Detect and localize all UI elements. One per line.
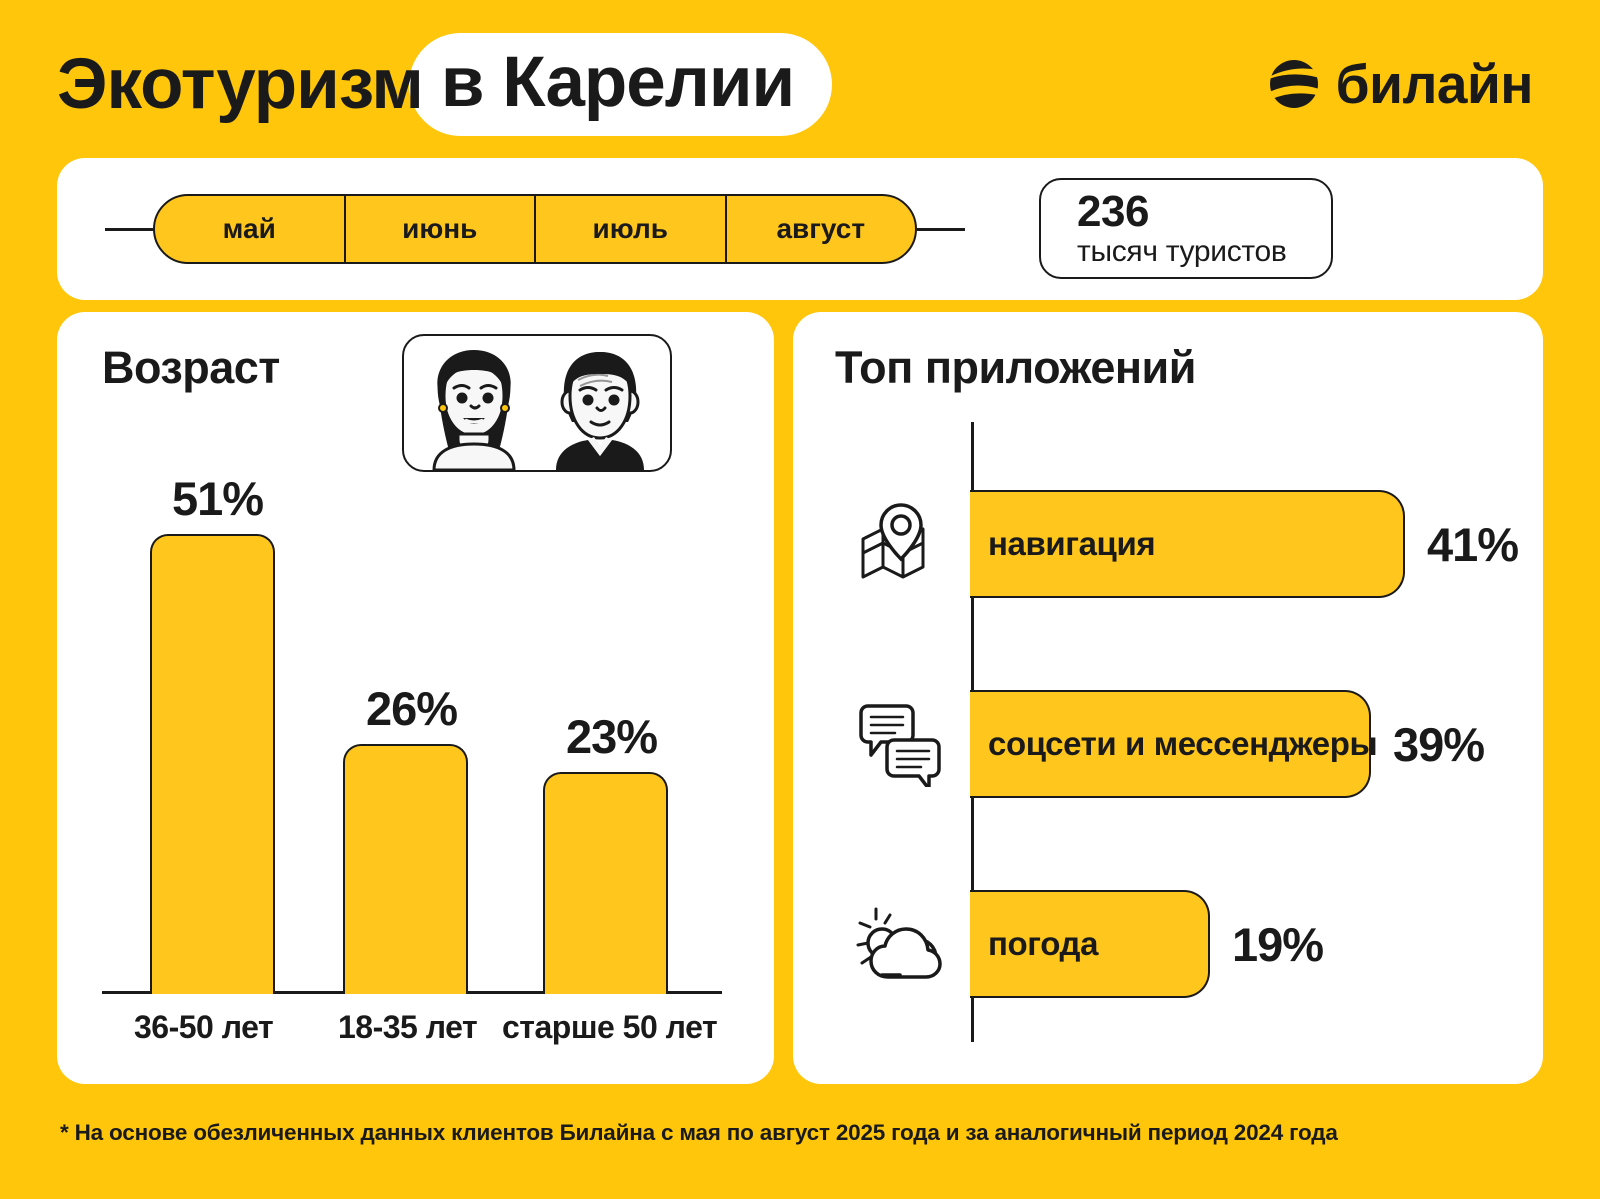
months-pill: май июнь июль август bbox=[153, 194, 917, 264]
page-title: Экотуризм в Карелии bbox=[57, 33, 832, 136]
infographic-page: Экотуризм в Карелии билайн bbox=[0, 0, 1600, 1199]
apps-row-navigation: навигация 41% bbox=[829, 490, 1529, 598]
chat-bubbles-icon bbox=[829, 701, 971, 787]
age-bar-group-1 bbox=[150, 534, 275, 994]
age-value-36-50: 51% bbox=[172, 471, 263, 526]
timeline-line-right bbox=[917, 228, 965, 231]
apps-bar-label-weather: погода bbox=[988, 925, 1098, 963]
tourists-number: 236 bbox=[1077, 189, 1331, 235]
title-main-text: Экотуризм bbox=[57, 49, 423, 120]
age-bar-group-2 bbox=[343, 744, 468, 994]
apps-section-title: Топ приложений bbox=[835, 342, 1196, 394]
apps-row-weather: погода 19% bbox=[829, 890, 1529, 998]
timeline-card: май июнь июль август 236 тысяч туристов bbox=[57, 158, 1543, 300]
age-bar-group-3 bbox=[543, 772, 668, 994]
apps-pct-social: 39% bbox=[1393, 717, 1484, 772]
apps-pct-navigation: 41% bbox=[1427, 517, 1518, 572]
age-bar-18-35[interactable] bbox=[343, 744, 468, 994]
title-pill-text: в Карелии bbox=[409, 33, 832, 136]
timeline-line-left bbox=[105, 228, 153, 231]
age-label-36-50: 36-50 лет bbox=[134, 1009, 273, 1046]
people-avatars-icon bbox=[402, 334, 672, 472]
age-value-50-plus: 23% bbox=[566, 709, 657, 764]
age-card: Возраст bbox=[57, 312, 774, 1084]
apps-bar-label-navigation: навигация bbox=[988, 525, 1155, 563]
age-bar-50-plus[interactable] bbox=[543, 772, 668, 994]
month-segment-july[interactable]: июль bbox=[536, 196, 727, 262]
header: Экотуризм в Карелии билайн bbox=[57, 28, 1543, 140]
beeline-sphere-icon bbox=[1266, 56, 1322, 112]
tourists-label: тысяч туристов bbox=[1077, 235, 1331, 268]
age-label-50-plus: старше 50 лет bbox=[502, 1009, 717, 1046]
month-segment-june[interactable]: июнь bbox=[346, 196, 537, 262]
apps-bar-weather[interactable]: погода bbox=[970, 890, 1210, 998]
age-value-18-35: 26% bbox=[366, 681, 457, 736]
brand-logo: билайн bbox=[1266, 56, 1543, 112]
brand-name-text: билайн bbox=[1336, 57, 1533, 112]
month-segment-august[interactable]: август bbox=[727, 196, 916, 262]
apps-bar-chart: навигация 41% соцсети и мессенджеры bbox=[829, 422, 1529, 1062]
apps-row-social: соцсети и мессенджеры 39% bbox=[829, 690, 1529, 798]
tourists-stat-card: 236 тысяч туристов bbox=[1039, 178, 1333, 279]
age-bar-chart: 51% 36-50 лет 26% 18-35 лет 23% старше 5… bbox=[102, 472, 732, 1062]
age-label-18-35: 18-35 лет bbox=[338, 1009, 477, 1046]
apps-card: Топ приложений навигация 41% bbox=[793, 312, 1543, 1084]
map-pin-icon bbox=[829, 501, 971, 587]
month-segment-may[interactable]: май bbox=[155, 196, 346, 262]
age-section-title: Возраст bbox=[102, 342, 280, 394]
apps-pct-weather: 19% bbox=[1232, 917, 1323, 972]
footnote-text: * На основе обезличенных данных клиентов… bbox=[60, 1120, 1338, 1146]
months-timeline: май июнь июль август bbox=[105, 187, 965, 271]
apps-bar-social[interactable]: соцсети и мессенджеры bbox=[970, 690, 1371, 798]
apps-bar-label-social: соцсети и мессенджеры bbox=[988, 725, 1377, 763]
age-bar-36-50[interactable] bbox=[150, 534, 275, 994]
apps-bar-navigation[interactable]: навигация bbox=[970, 490, 1405, 598]
sun-cloud-icon bbox=[829, 901, 971, 987]
